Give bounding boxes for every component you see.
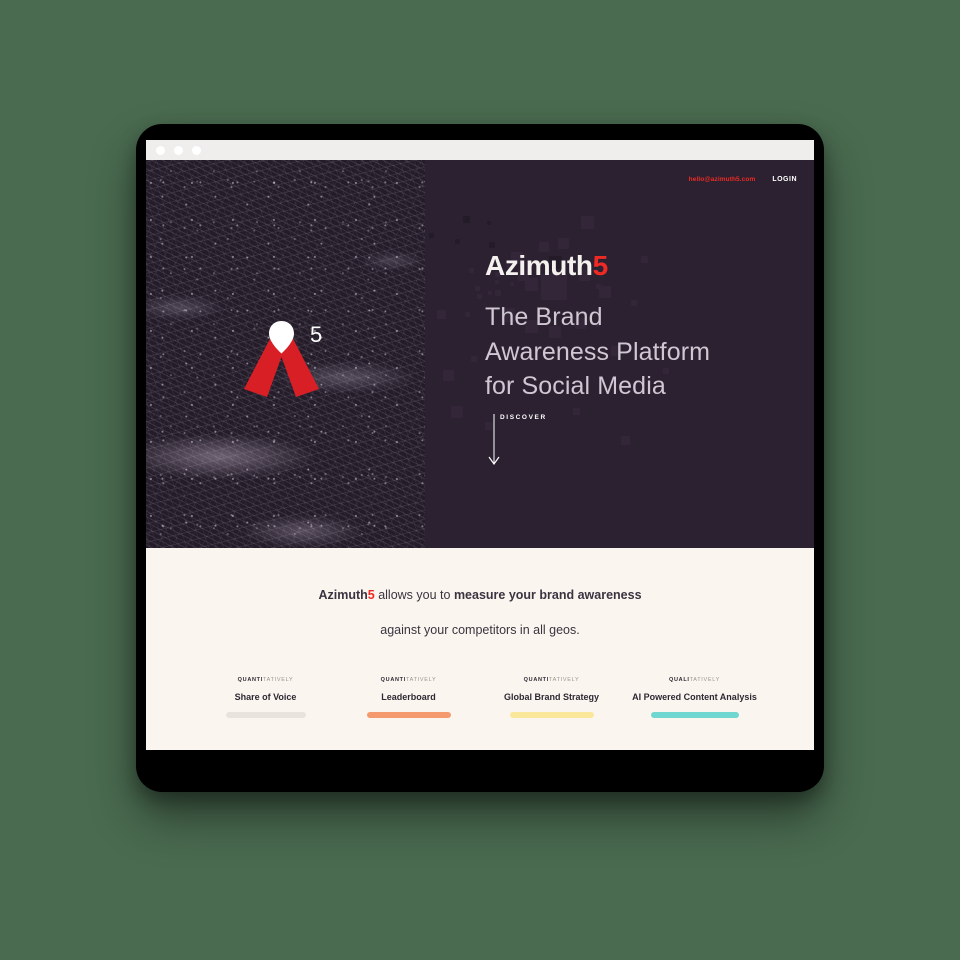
decorative-square bbox=[463, 216, 470, 223]
decorative-square bbox=[465, 312, 470, 317]
feature-eyebrow: QUANTITATIVELY bbox=[480, 677, 623, 683]
feature-underline-bar bbox=[510, 712, 594, 718]
logo-superscript-5: 5 bbox=[310, 322, 322, 347]
hero-topbar: hello@azimuth5.com LOGIN bbox=[689, 176, 797, 183]
tagline-emphasis: measure your brand awareness bbox=[454, 588, 642, 602]
eyebrow-strong: QUANTI bbox=[238, 677, 263, 683]
decorative-square bbox=[469, 268, 474, 273]
feature-eyebrow: QUANTITATIVELY bbox=[337, 677, 480, 683]
feature-item-share-of-voice[interactable]: QUANTITATIVELY Share of Voice bbox=[194, 677, 337, 718]
decorative-square bbox=[455, 239, 460, 244]
login-link[interactable]: LOGIN bbox=[772, 176, 797, 183]
feature-underline-bar bbox=[651, 712, 739, 718]
feature-item-leaderboard[interactable]: QUANTITATIVELY Leaderboard bbox=[337, 677, 480, 718]
feature-title: Leaderboard bbox=[337, 692, 480, 702]
eyebrow-strong: QUANTI bbox=[524, 677, 549, 683]
eyebrow-strong: QUANTI bbox=[381, 677, 406, 683]
headline-line: Awareness Platform bbox=[485, 335, 710, 370]
decorative-square bbox=[475, 286, 480, 291]
decorative-square bbox=[621, 436, 630, 445]
decorative-square bbox=[471, 356, 477, 362]
decorative-square bbox=[429, 233, 434, 238]
eyebrow-weak: TATIVELY bbox=[690, 677, 720, 683]
decorative-square bbox=[443, 370, 454, 381]
eyebrow-weak: TATIVELY bbox=[263, 677, 293, 683]
discover-label: DISCOVER bbox=[500, 414, 547, 421]
decorative-square bbox=[489, 242, 495, 248]
headline-line: for Social Media bbox=[485, 369, 710, 404]
feature-title: Share of Voice bbox=[194, 692, 337, 702]
browser-titlebar bbox=[146, 140, 814, 160]
tagline-line-2: against your competitors in all geos. bbox=[146, 624, 814, 637]
tagline-middle: allows you to bbox=[375, 588, 454, 602]
contact-email-link[interactable]: hello@azimuth5.com bbox=[689, 176, 756, 183]
maximize-dot[interactable] bbox=[192, 146, 201, 155]
minimize-dot[interactable] bbox=[174, 146, 183, 155]
decorative-square bbox=[558, 238, 569, 249]
hero-section: 5 bbox=[146, 160, 814, 548]
feature-item-global-brand-strategy[interactable]: QUANTITATIVELY Global Brand Strategy bbox=[480, 677, 623, 718]
brand-wordmark: Azimuth5 bbox=[485, 252, 710, 280]
feature-title: Global Brand Strategy bbox=[480, 692, 623, 702]
body-section: Azimuth5 allows you to measure your bran… bbox=[146, 548, 814, 750]
browser-window: 5 bbox=[146, 140, 814, 750]
eyebrow-weak: TATIVELY bbox=[406, 677, 436, 683]
discover-cta[interactable]: DISCOVER bbox=[486, 414, 606, 474]
headline-line: The Brand bbox=[485, 300, 710, 335]
decorative-square bbox=[451, 406, 463, 418]
hero-headline: The Brand Awareness Platform for Social … bbox=[485, 300, 710, 404]
brand-name: Azimuth bbox=[485, 250, 593, 281]
hero-text-block: Azimuth5 The Brand Awareness Platform fo… bbox=[485, 252, 710, 404]
decorative-square bbox=[437, 310, 446, 319]
decorative-square bbox=[487, 221, 491, 225]
tagline-brand: Azimuth bbox=[318, 588, 367, 602]
azimuth5-logo: 5 bbox=[236, 311, 336, 397]
close-dot[interactable] bbox=[156, 146, 165, 155]
tagline-line-1: Azimuth5 allows you to measure your bran… bbox=[146, 589, 814, 602]
feature-list: QUANTITATIVELY Share of Voice QUANTITATI… bbox=[146, 677, 814, 718]
hero-map-panel: 5 bbox=[146, 160, 425, 548]
feature-underline-bar bbox=[226, 712, 306, 718]
hero-content-panel: hello@azimuth5.com LOGIN Azimuth5 The Br… bbox=[425, 160, 814, 548]
feature-item-ai-powered-content-analysis[interactable]: QUALITATIVELY AI Powered Content Analysi… bbox=[623, 677, 766, 718]
feature-eyebrow: QUANTITATIVELY bbox=[194, 677, 337, 683]
page-stage: 5 bbox=[0, 0, 960, 960]
feature-eyebrow: QUALITATIVELY bbox=[623, 677, 766, 683]
eyebrow-strong: QUALI bbox=[669, 677, 690, 683]
feature-underline-bar bbox=[367, 712, 451, 718]
device-frame: 5 bbox=[136, 124, 824, 792]
arrow-down-icon bbox=[486, 414, 502, 470]
decorative-square bbox=[581, 216, 594, 229]
feature-title: AI Powered Content Analysis bbox=[623, 692, 766, 702]
decorative-square bbox=[477, 294, 482, 299]
eyebrow-weak: TATIVELY bbox=[549, 677, 579, 683]
brand-suffix: 5 bbox=[593, 250, 608, 281]
tagline-brand-suffix: 5 bbox=[368, 588, 375, 602]
